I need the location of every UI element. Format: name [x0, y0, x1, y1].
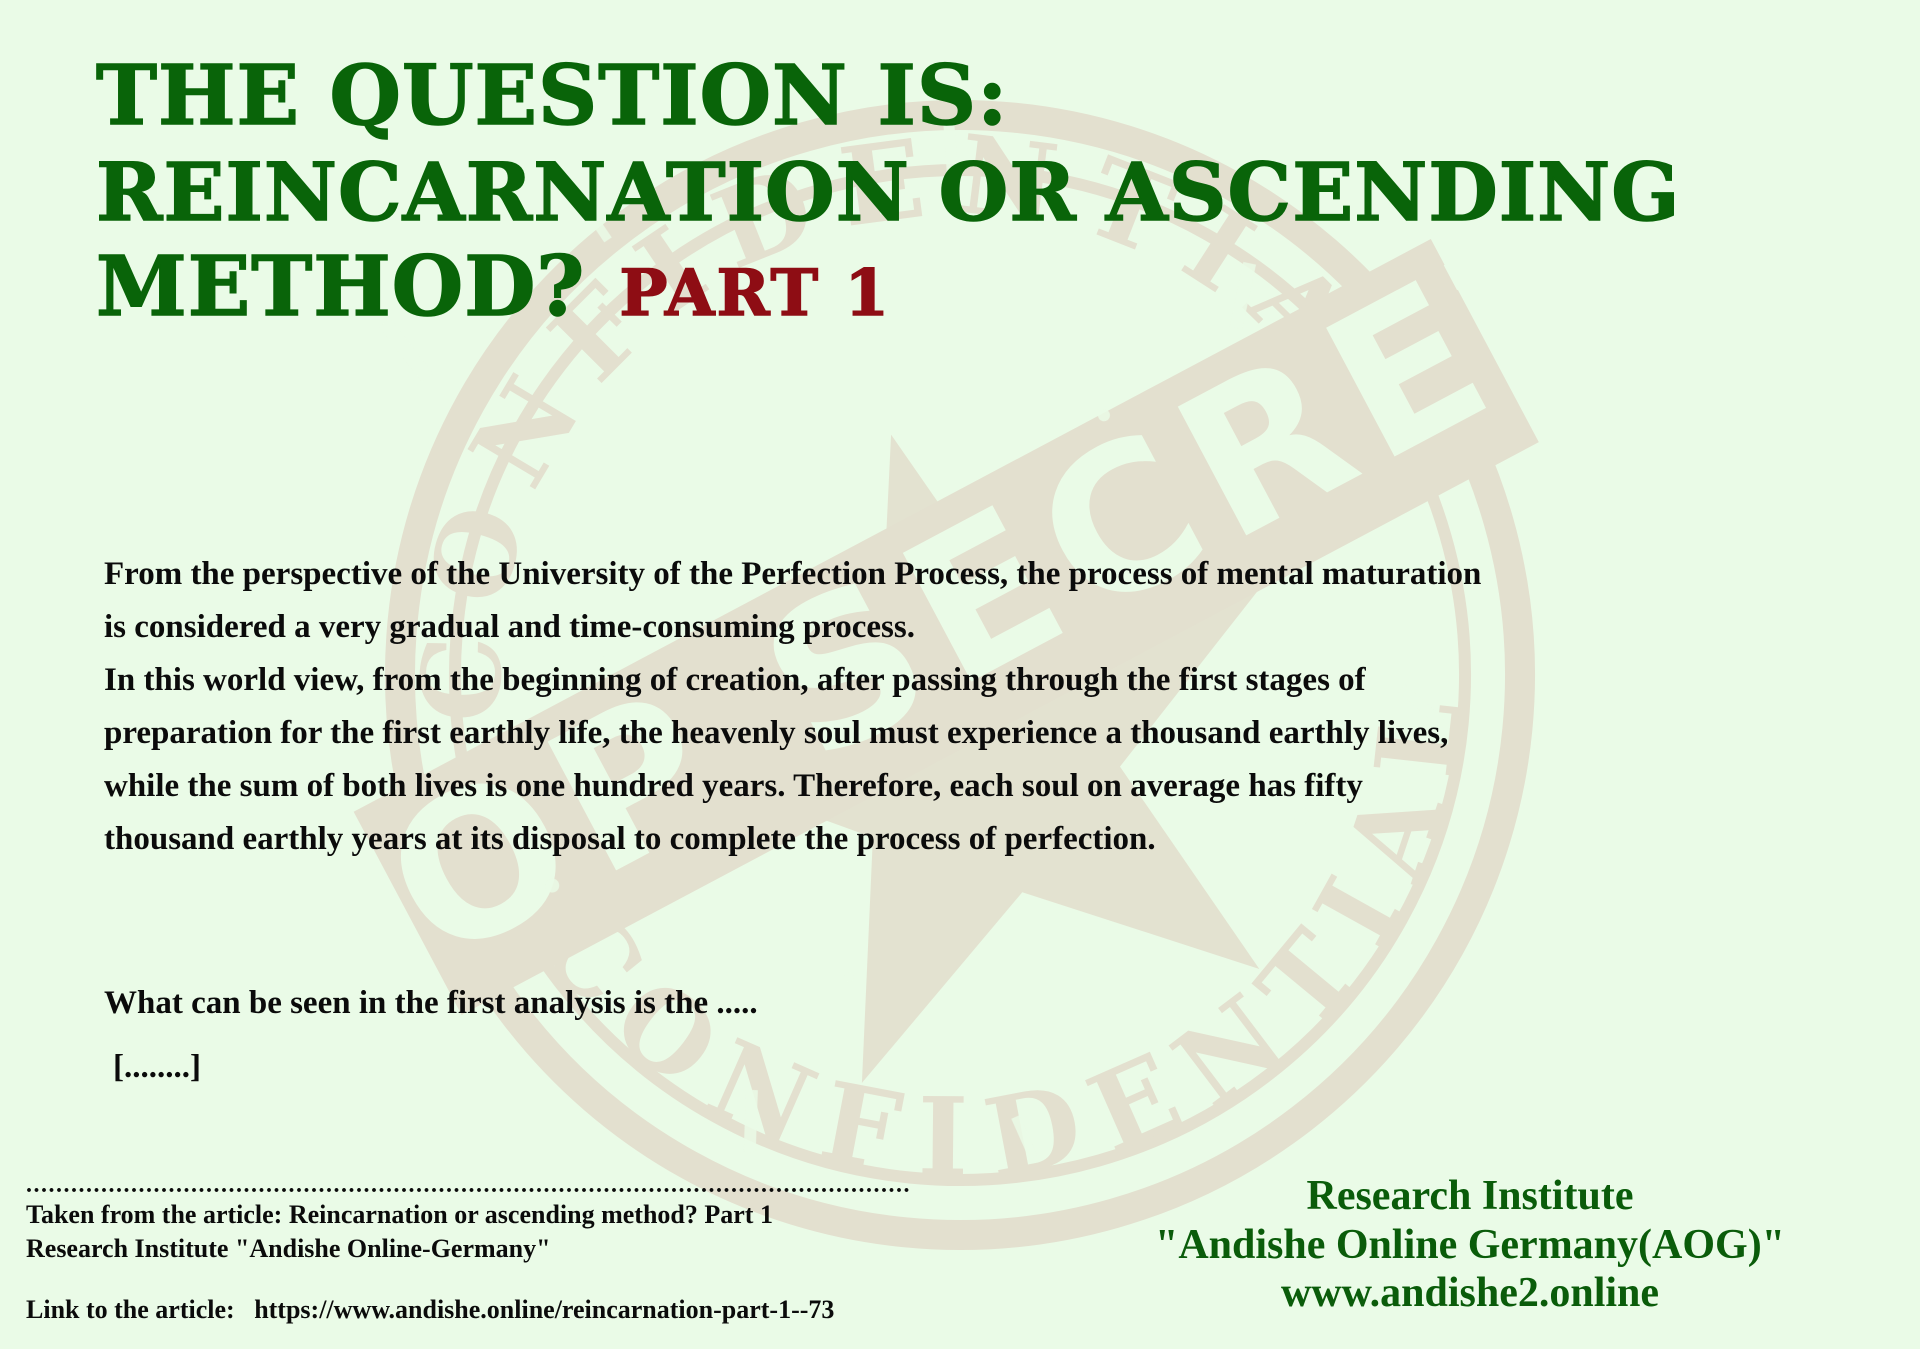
body-p1-line-1: From the perspective of the University o…: [104, 548, 1524, 601]
title-line-3-text: METHOD?: [96, 239, 585, 335]
brand-line-3[interactable]: www.andishe2.online: [1080, 1269, 1860, 1318]
title-line-2: REINCARNATION OR ASCENDING: [96, 145, 1896, 239]
brand-line-2: "Andishe Online Germany(AOG)": [1080, 1221, 1860, 1270]
poster-title-block: THE QUESTION IS: REINCARNATION OR ASCEND…: [96, 48, 1896, 336]
footer-dotted-rule: ........................................…: [26, 1176, 1026, 1198]
body-p1-line-2: is considered a very gradual and time-co…: [104, 601, 1524, 654]
body-p2-line-1: In this world view, from the beginning o…: [104, 654, 1524, 707]
body-text-block: From the perspective of the University o…: [104, 548, 1524, 866]
body-ellipsis-bracket: [........]: [113, 1049, 201, 1086]
body-p2-line-3: while the sum of both lives is one hundr…: [104, 760, 1524, 813]
footer-source-block: ........................................…: [26, 1176, 1026, 1266]
body-p2-line-4: thousand earthly years at its disposal t…: [104, 813, 1524, 866]
footer-link-url[interactable]: https://www.andishe.online/reincarnation…: [254, 1295, 834, 1324]
footer-source-line-1: Taken from the article: Reincarnation or…: [26, 1198, 1026, 1232]
footer-article-link-row[interactable]: Link to the article: https://www.andishe…: [26, 1295, 834, 1325]
title-part-label: PART 1: [619, 256, 891, 331]
brand-block: Research Institute "Andishe Online Germa…: [1080, 1172, 1860, 1318]
brand-line-1: Research Institute: [1080, 1172, 1860, 1221]
poster-page: CONFIDENTIAL CONFIDENTIAL TOP SECRET: [0, 0, 1920, 1349]
poster-content: THE QUESTION IS: REINCARNATION OR ASCEND…: [0, 0, 1920, 1349]
title-line-3: METHOD?PART 1: [96, 239, 1896, 336]
footer-link-label: Link to the article:: [26, 1295, 235, 1324]
body-question-line: What can be seen in the first analysis i…: [104, 985, 758, 1022]
body-p2-line-2: preparation for the first earthly life, …: [104, 707, 1524, 760]
footer-source-line-2: Research Institute "Andishe Online-Germa…: [26, 1232, 1026, 1266]
title-line-1: THE QUESTION IS:: [96, 48, 1896, 145]
